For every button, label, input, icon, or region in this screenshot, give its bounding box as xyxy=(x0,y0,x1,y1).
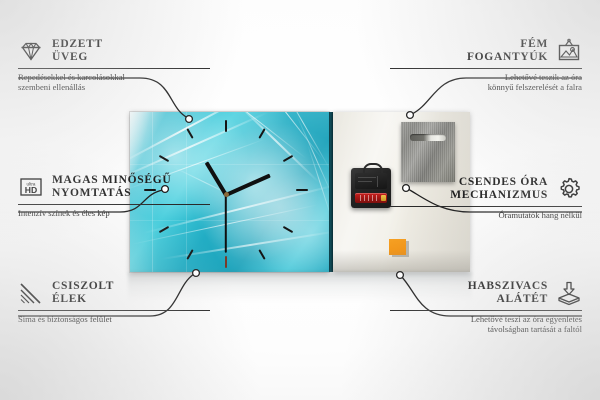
feature-title-line1: EDZETT xyxy=(52,38,103,51)
battery-positive-terminal xyxy=(381,195,386,201)
mechanism-housing xyxy=(355,173,387,189)
feature-desc-line1: Lehetővé teszik az óra xyxy=(390,72,582,82)
feature-desc-line2: távolságban tartását a faltól xyxy=(390,324,582,334)
feature-desc-line1: Lehetővé teszi az óra egyenletes xyxy=(390,314,582,324)
clock-second-hand xyxy=(225,194,227,252)
svg-text:HD: HD xyxy=(25,185,37,195)
clock-center-cap xyxy=(224,192,229,197)
feature-divider xyxy=(18,204,210,205)
feature-title-line1: HABSZIVACS xyxy=(468,280,548,293)
feature-desc-line1: Intenzív színek és éles kép xyxy=(18,208,210,218)
feature-title-line1: FÉM xyxy=(467,38,548,51)
feature-title-line1: CSISZOLT xyxy=(52,280,114,293)
feature-foam-spacer: HABSZIVACS ALÁTÉT Lehetővé teszi az óra … xyxy=(390,280,582,335)
feature-divider xyxy=(18,68,210,69)
metal-hanger xyxy=(401,122,455,182)
feature-polished-edges: CSISZOLT ÉLEK Sima és biztonságos felüle… xyxy=(18,280,210,324)
feature-divider xyxy=(390,206,582,207)
feature-title: EDZETT ÜVEG xyxy=(52,38,103,64)
framed-picture-hook-icon xyxy=(556,38,582,64)
feature-desc-line1: Repedésekkel és karcolásokkal xyxy=(18,72,210,82)
feature-title: MAGAS MINŐSÉGŰ NYOMTATÁS xyxy=(52,174,171,200)
feature-divider xyxy=(390,68,582,69)
diamond-icon xyxy=(18,38,44,64)
hatch-lines-icon xyxy=(18,280,44,306)
clock-minute-hand xyxy=(225,174,270,197)
feature-title-line2: ÉLEK xyxy=(52,293,114,306)
feature-title-line2: MECHANIZMUS xyxy=(450,189,548,202)
feature-title: FÉM FOGANTYÚK xyxy=(467,38,548,64)
ultra-hd-icon: ultra HD xyxy=(18,174,44,200)
feature-divider xyxy=(18,310,210,311)
feature-high-quality-print: ultra HD MAGAS MINŐSÉGŰ NYOMTATÁS Intenz… xyxy=(18,174,210,218)
feature-title-line2: ÜVEG xyxy=(52,51,103,64)
feature-desc-line1: Sima és biztonságos felület xyxy=(18,314,210,324)
feature-title-line2: ALÁTÉT xyxy=(468,293,548,306)
feature-metal-handles: FÉM FOGANTYÚK Lehetővé teszik az óra kön… xyxy=(390,38,582,93)
feature-desc-line2: könnyű felszerelését a falra xyxy=(390,82,582,92)
feature-title-line1: CSENDES ÓRA xyxy=(450,176,548,189)
metal-hanger-texture xyxy=(401,122,455,182)
back-panel-shadow xyxy=(333,250,470,272)
gear-icon xyxy=(556,176,582,202)
feature-title-line1: MAGAS MINŐSÉGŰ xyxy=(52,174,171,187)
feature-title: CSENDES ÓRA MECHANIZMUS xyxy=(450,176,548,202)
arrow-onto-pad-icon xyxy=(556,280,582,306)
feature-title: CSISZOLT ÉLEK xyxy=(52,280,114,306)
hanger-keyhole-slot xyxy=(410,134,446,141)
feature-desc-line1: Óramutatók hang nélkül xyxy=(390,210,582,220)
infographic-canvas: EDZETT ÜVEG Repedésekkel és karcolásokka… xyxy=(0,0,600,400)
feature-title: HABSZIVACS ALÁTÉT xyxy=(468,280,548,306)
feature-title-line2: NYOMTATÁS xyxy=(52,187,171,200)
feature-divider xyxy=(390,310,582,311)
feature-title-line2: FOGANTYÚK xyxy=(467,51,548,64)
clock-mechanism-box xyxy=(351,168,391,208)
feature-desc-line2: szembeni ellenállás xyxy=(18,82,210,92)
clock-battery xyxy=(355,193,387,203)
feature-silent-mechanism: CSENDES ÓRA MECHANIZMUS Óramutatók hang … xyxy=(390,176,582,220)
feature-tempered-glass: EDZETT ÜVEG Repedésekkel és karcolásokka… xyxy=(18,38,210,93)
